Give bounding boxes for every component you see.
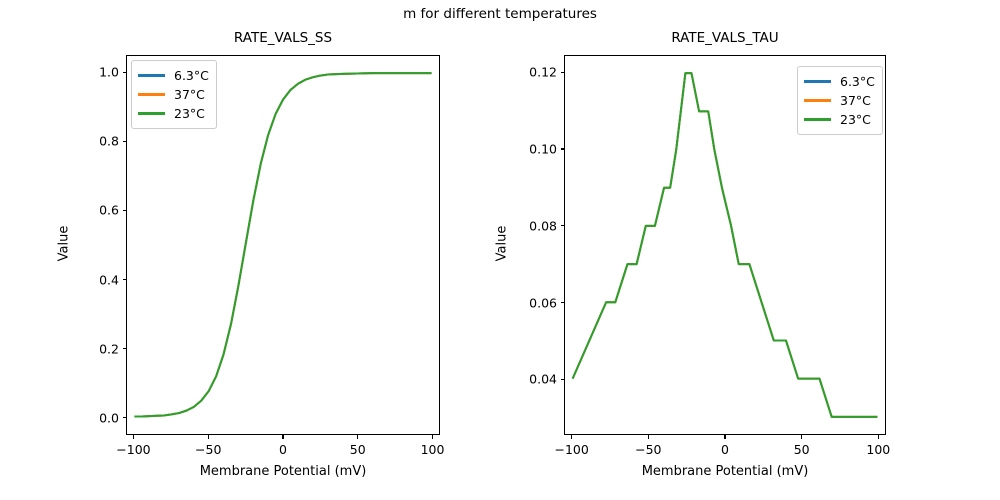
legend-item: 6.3°C	[804, 72, 875, 91]
y-axis-label: Value	[57, 54, 72, 434]
legend-label: 37°C	[174, 87, 205, 102]
y-tickmark	[123, 417, 127, 418]
x-tick-label: −50	[195, 442, 221, 457]
legend-item: 37°C	[804, 91, 875, 110]
legend-line-swatch	[138, 112, 165, 114]
x-tickmark	[648, 435, 649, 439]
legend-line-swatch	[804, 99, 831, 101]
x-tick-label: −100	[554, 442, 588, 457]
x-tickmark	[878, 435, 879, 439]
x-tickmark	[282, 435, 283, 439]
y-tick-label: 0.2	[36, 341, 119, 356]
legend-left[interactable]: 6.3°C 37°C 23°C	[131, 60, 217, 129]
legend-right[interactable]: 6.3°C 37°C 23°C	[797, 66, 883, 135]
legend-label: 23°C	[174, 106, 205, 121]
legend-label: 37°C	[840, 93, 871, 108]
y-tickmark	[123, 348, 127, 349]
x-axis-label: Membrane Potential (mV)	[564, 464, 886, 479]
y-tickmark	[561, 148, 565, 149]
x-tickmark	[571, 435, 572, 439]
x-tickmark	[801, 435, 802, 439]
y-tickmark	[123, 141, 127, 142]
y-tick-label: 0.8	[36, 134, 119, 149]
y-tick-label: 0.10	[474, 142, 557, 157]
y-tickmark	[561, 302, 565, 303]
figure-suptitle: m for different temperatures	[0, 6, 1000, 22]
x-tickmark	[724, 435, 725, 439]
legend-item: 23°C	[138, 104, 209, 123]
y-tick-label: 0.04	[474, 372, 557, 387]
legend-line-swatch	[138, 74, 165, 76]
x-tick-label: 0	[721, 442, 729, 457]
y-tick-label: 1.0	[36, 65, 119, 80]
legend-item: 23°C	[804, 110, 875, 129]
x-axis-label: Membrane Potential (mV)	[126, 464, 440, 479]
x-tickmark	[432, 435, 433, 439]
y-tickmark	[123, 210, 127, 211]
y-tickmark	[561, 225, 565, 226]
matplotlib-figure: m for different temperatures RATE_VALS_S…	[0, 0, 1000, 500]
x-tick-label: 100	[421, 442, 445, 457]
y-tick-label: 0.12	[474, 65, 557, 80]
subplot-title-left: RATE_VALS_SS	[126, 30, 440, 46]
x-tick-label: −100	[116, 442, 150, 457]
legend-label: 6.3°C	[174, 68, 209, 83]
x-tick-label: −50	[635, 442, 661, 457]
legend-line-swatch	[804, 80, 831, 82]
legend-item: 6.3°C	[138, 66, 209, 85]
legend-line-swatch	[804, 118, 831, 120]
x-tickmark	[133, 435, 134, 439]
y-axis-label: Value	[495, 54, 510, 434]
y-tick-label: 0.6	[36, 203, 119, 218]
y-tick-label: 0.08	[474, 218, 557, 233]
legend-line-swatch	[138, 93, 165, 95]
y-tickmark	[123, 279, 127, 280]
y-tick-label: 0.06	[474, 295, 557, 310]
y-tick-label: 0.4	[36, 272, 119, 287]
legend-label: 6.3°C	[840, 74, 875, 89]
x-tick-label: 50	[350, 442, 366, 457]
x-tick-label: 100	[866, 442, 890, 457]
x-tick-label: 50	[794, 442, 810, 457]
legend-label: 23°C	[840, 112, 871, 127]
subplot-title-right: RATE_VALS_TAU	[564, 30, 886, 46]
y-tick-label: 0.0	[36, 410, 119, 425]
y-tickmark	[561, 72, 565, 73]
y-tickmark	[123, 72, 127, 73]
x-tickmark	[208, 435, 209, 439]
x-tick-label: 0	[279, 442, 287, 457]
legend-item: 37°C	[138, 85, 209, 104]
y-tickmark	[561, 379, 565, 380]
x-tickmark	[357, 435, 358, 439]
